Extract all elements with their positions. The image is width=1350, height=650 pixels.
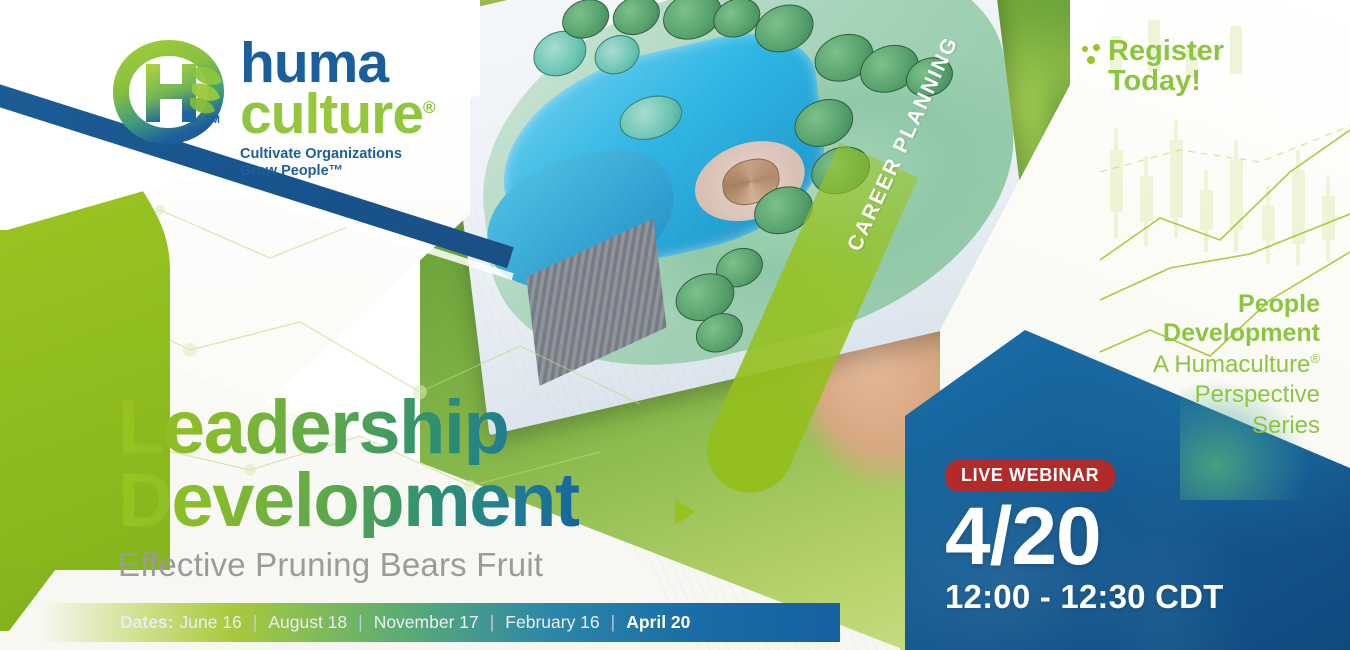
logo-culture-text: culture® <box>240 88 435 140</box>
title-line-2-text: Development <box>118 458 579 543</box>
date-item-active: April 20 <box>626 612 690 632</box>
logo-tagline: Cultivate Organizations Grow People™ <box>240 146 435 181</box>
title-line-1: Leadership <box>118 392 579 465</box>
webinar-details: LIVE WEBINAR 4/20 12:00 - 12:30 CDT <box>945 460 1224 616</box>
logo-tm-mark: TM <box>204 114 220 126</box>
series-humaculture-text: A Humaculture <box>1153 351 1310 378</box>
series-block: People Development A Humaculture® Perspe… <box>1040 290 1320 441</box>
dates-bar: Dates: June 16|August 18|November 17|Feb… <box>40 603 840 642</box>
subtitle: Effective Pruning Bears Fruit <box>118 546 579 584</box>
webinar-time: 12:00 - 12:30 CDT <box>945 578 1224 616</box>
logo-registered-mark: ® <box>423 98 435 117</box>
webinar-date: 4/20 <box>945 498 1224 576</box>
date-item: August 18 <box>268 612 347 632</box>
three-dots-icon <box>1082 44 1104 66</box>
date-separator: | <box>611 612 616 632</box>
series-bold-line-2: Development <box>1040 319 1320 348</box>
title-line-2: Development <box>118 465 579 538</box>
dates-list: June 16|August 18|November 17|February 1… <box>180 612 691 633</box>
logo-culture-word: culture <box>240 82 423 146</box>
series-registered-mark: ® <box>1310 351 1320 366</box>
date-item: February 16 <box>505 612 599 632</box>
date-separator: | <box>490 612 495 632</box>
series-light-line-1: A Humaculture® <box>1040 351 1320 380</box>
date-item: November 17 <box>374 612 479 632</box>
register-line-1: Register <box>1108 36 1224 66</box>
date-item: June 16 <box>180 612 242 632</box>
register-today-cta[interactable]: Register Today! <box>1108 36 1224 97</box>
webinar-promo-banner: TM huma culture® Cultivate Organizations… <box>0 0 1350 650</box>
date-separator: | <box>358 612 363 632</box>
series-light-line-2: Perspective <box>1040 381 1320 410</box>
logo-wordmark: huma culture® Cultivate Organizations Gr… <box>240 38 435 181</box>
register-line-2: Today! <box>1108 66 1224 96</box>
date-separator: | <box>253 612 258 632</box>
series-bold-line-1: People <box>1040 290 1320 319</box>
tagline-line-1: Cultivate Organizations <box>240 146 435 164</box>
logo-huma-text: huma <box>240 38 435 88</box>
play-triangle-icon <box>675 499 695 525</box>
tagline-line-2: Grow People™ <box>240 163 435 181</box>
logo-leaf-h-icon <box>108 34 230 152</box>
series-light-line-3: Series <box>1040 412 1320 441</box>
live-webinar-badge: LIVE WEBINAR <box>945 460 1115 492</box>
dates-label: Dates: <box>120 612 174 633</box>
main-title-block: Leadership Development Effective Pruning… <box>118 392 579 584</box>
